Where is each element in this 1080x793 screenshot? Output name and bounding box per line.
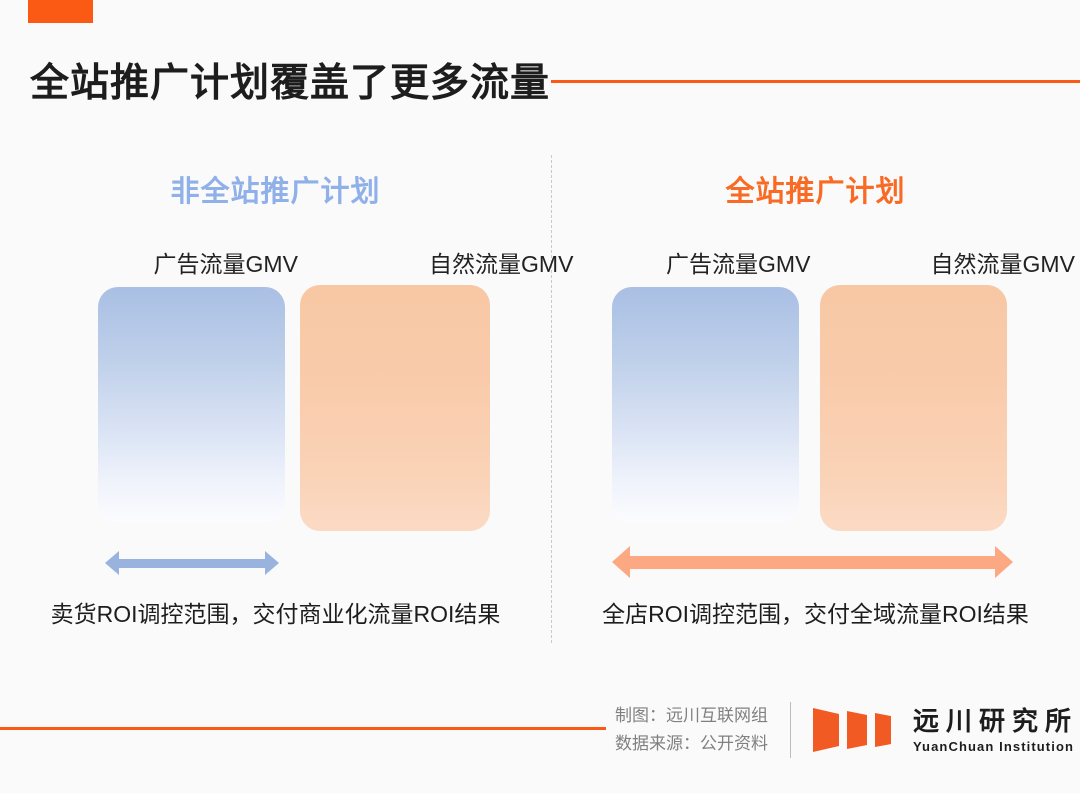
slide-root: 全站推广计划覆盖了更多流量 非全站推广计划 广告流量GMV 自然流量GMV 卖货… — [0, 0, 1080, 793]
bar-ad-traffic-left — [98, 287, 285, 522]
footer-credit-author: 制图：远川互联网组 — [615, 702, 768, 730]
panel-heading-right: 全站推广计划 — [551, 168, 1080, 210]
logo-name-en: YuanChuan Institution — [913, 740, 1078, 753]
bar-organic-traffic-right — [820, 285, 1007, 531]
footer-rule — [0, 727, 606, 730]
arrow-left-head-icon — [105, 551, 119, 575]
logo-bars-icon — [813, 706, 899, 754]
bar-organic-traffic-left — [300, 285, 490, 531]
bar-label-ad-right: 广告流量GMV — [666, 245, 810, 279]
bar-labels-right: 广告流量GMV 自然流量GMV — [551, 245, 1080, 279]
footer-divider — [790, 702, 791, 758]
page-title: 全站推广计划覆盖了更多流量 — [30, 52, 550, 108]
bar-label-ad-left: 广告流量GMV — [154, 245, 298, 279]
bar-label-organic-right: 自然流量GMV — [931, 245, 1075, 279]
caption-left: 卖货ROI调控范围，交付商业化流量ROI结果 — [0, 595, 551, 629]
panel-divider — [551, 155, 552, 643]
footer: 制图：远川互联网组 数据来源：公开资料 远川研究所 YuanChuan Inst… — [615, 694, 1078, 766]
footer-credit-source: 数据来源：公开资料 — [615, 730, 768, 758]
bar-ad-traffic-right — [612, 287, 799, 522]
range-arrow-right — [612, 546, 1013, 578]
logo-text: 远川研究所 YuanChuan Institution — [913, 708, 1078, 753]
arrow-left-head-icon — [612, 546, 630, 578]
caption-right: 全店ROI调控范围，交付全域流量ROI结果 — [551, 595, 1080, 629]
arrow-shaft — [119, 559, 265, 568]
brand-logo: 远川研究所 YuanChuan Institution — [813, 706, 1078, 754]
panel-heading-left: 非全站推广计划 — [0, 168, 551, 210]
range-arrow-left — [105, 551, 279, 575]
arrow-right-head-icon — [265, 551, 279, 575]
title-rule — [551, 80, 1080, 83]
arrow-shaft — [630, 556, 995, 569]
top-accent-block — [28, 0, 93, 23]
logo-name-cn: 远川研究所 — [913, 708, 1078, 734]
footer-credits: 制图：远川互联网组 数据来源：公开资料 — [615, 702, 768, 758]
arrow-right-head-icon — [995, 546, 1013, 578]
